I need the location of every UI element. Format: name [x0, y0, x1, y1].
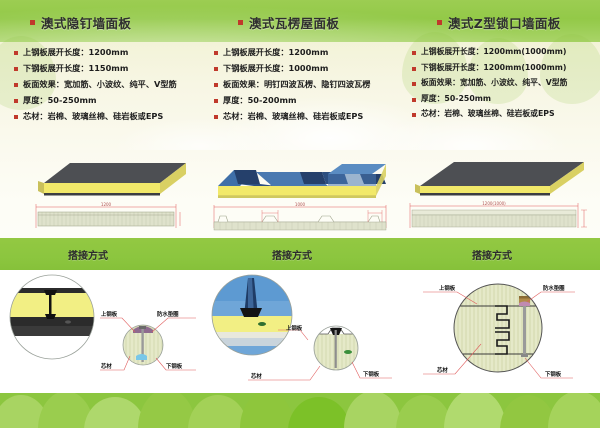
spec-item: 板面效果：宽加筋、小波纹、纯平、V型筋 [14, 80, 210, 89]
panel-dimension-drawing-2: 1000 [214, 202, 386, 230]
bullet-square-icon [14, 83, 18, 87]
bottom-leaf-decoration [0, 393, 600, 428]
joint-detail-area: 上钢板 防水垫圈 芯材 下钢板 [0, 270, 600, 393]
panel-dimension-drawing-3: 1200(1000) [410, 201, 587, 228]
bullet-square-icon [412, 51, 416, 55]
bullet-square-icon [14, 67, 18, 71]
spec-text: 板面效果：宽加筋、小波纹、纯平、V型筋 [421, 79, 567, 88]
bullet-square-icon [412, 82, 416, 86]
spec-column-2: 上钢板展开长度：1200mm 下钢板展开长度：1000mm 板面效果：明钉四波瓦… [214, 48, 410, 128]
spec-text: 下钢板展开长度：1000mm [223, 64, 328, 73]
bullet-square-icon [412, 113, 416, 117]
bullet-square-icon [412, 67, 416, 71]
lap-label-2: 搭接方式 [272, 247, 312, 262]
spec-item: 芯材：岩棉、玻璃丝棉、硅岩板或EPS [14, 112, 210, 121]
bullet-square-icon [14, 99, 18, 103]
spec-text: 上钢板展开长度：1200mm [223, 48, 328, 57]
spec-text: 板面效果：明钉四波瓦楞、隐钉四波瓦楞 [223, 80, 370, 89]
product-title-2-label: 澳式瓦楞屋面板 [249, 13, 339, 32]
product-title-row: 澳式隐钉墙面板 澳式瓦楞屋面板 澳式Z型锁口墙面板 [0, 0, 600, 42]
spec-column-1: 上钢板展开长度：1200mm 下钢板展开长度：1150mm 板面效果：宽加筋、小… [14, 48, 210, 128]
spec-columns: 上钢板展开长度：1200mm 下钢板展开长度：1150mm 板面效果：宽加筋、小… [0, 42, 600, 150]
bullet-square-icon [214, 51, 218, 55]
callout-waterproof-washer-3: 防水垫圈 [543, 284, 565, 292]
bullet-square-icon [214, 115, 218, 119]
spec-text: 下钢板展开长度：1200mm(1000mm) [421, 64, 566, 73]
spec-item: 下钢板展开长度：1200mm(1000mm) [412, 64, 600, 73]
lap-label-1: 搭接方式 [68, 247, 108, 262]
lap-joint-bar: 搭接方式 搭接方式 搭接方式 [0, 238, 600, 270]
panel-dimension-drawing-1: 1200 [36, 202, 180, 228]
callout-lower-plate-1: 下钢板 [166, 362, 182, 370]
spec-column-3: 上钢板展开长度：1200mm(1000mm) 下钢板展开长度：1200mm(10… [412, 48, 600, 126]
spec-item: 厚度：50-200mm [214, 96, 410, 105]
spec-text: 厚度：50-250mm [23, 96, 97, 105]
z-lock-detail [450, 282, 548, 374]
spec-text: 上钢板展开长度：1200mm [23, 48, 128, 57]
panel-core-face [44, 183, 160, 194]
spec-item: 厚度：50-250mm [412, 95, 600, 104]
callout-upper-plate-3: 上钢板 [439, 284, 455, 292]
spec-item: 板面效果：明钉四波瓦楞、隐钉四波瓦楞 [214, 80, 410, 89]
callout-upper-plate-2: 上钢板 [286, 324, 302, 332]
product-title-3: 澳式Z型锁口墙面板 [437, 13, 561, 32]
spec-item: 上钢板展开长度：1200mm [214, 48, 410, 57]
spec-item: 芯材：岩棉、玻璃丝棉、硅岩板或EPS [412, 110, 600, 119]
panel-drawing-3: 1200(1000) [400, 150, 600, 238]
spec-text: 厚度：50-250mm [421, 95, 491, 104]
spec-item: 厚度：50-250mm [14, 96, 210, 105]
bullet-square-icon [214, 99, 218, 103]
callout-upper-plate-1: 上钢板 [101, 310, 117, 318]
dimension-label-1: 1200 [101, 202, 112, 207]
spec-item: 板面效果：宽加筋、小波纹、纯平、V型筋 [412, 79, 600, 88]
spec-item: 上钢板展开长度：1200mm [14, 48, 210, 57]
bullet-square-icon [214, 67, 218, 71]
spec-text: 芯材：岩棉、玻璃丝棉、硅岩板或EPS [421, 110, 555, 119]
spec-item: 芯材：岩棉、玻璃丝棉、硅岩板或EPS [214, 112, 410, 121]
panel-core-face [420, 186, 550, 194]
panel-drawing-2: 1000 [200, 150, 400, 238]
dimension-label-3: 1200(1000) [482, 201, 506, 206]
callout-core-2: 芯材 [251, 372, 262, 380]
joint-detail-3: 上钢板 防水垫圈 芯材 下钢板 [395, 270, 600, 393]
joint-detail-2: 上钢板 芯材 下钢板 [200, 270, 395, 393]
spec-text: 芯材：岩棉、玻璃丝棉、硅岩板或EPS [223, 112, 363, 121]
bullet-square-icon [30, 20, 35, 25]
spec-text: 芯材：岩棉、玻璃丝棉、硅岩板或EPS [23, 112, 163, 121]
product-title-1: 澳式隐钉墙面板 [30, 13, 131, 32]
bullet-square-icon [412, 98, 416, 102]
spec-text: 板面效果：宽加筋、小波纹、纯平、V型筋 [23, 80, 177, 89]
bullet-square-icon [14, 115, 18, 119]
spec-text: 厚度：50-200mm [223, 96, 297, 105]
product-title-2: 澳式瓦楞屋面板 [238, 13, 339, 32]
callout-core-3: 芯材 [437, 366, 448, 374]
bullet-square-icon [238, 20, 243, 25]
lap-label-3: 搭接方式 [472, 247, 512, 262]
callout-lower-plate-3: 下钢板 [545, 370, 561, 378]
callout-lower-plate-2: 下钢板 [363, 370, 379, 378]
spec-item: 下钢板展开长度：1150mm [14, 64, 210, 73]
bullet-square-icon [214, 83, 218, 87]
spec-text: 下钢板展开长度：1150mm [23, 64, 128, 73]
product-title-3-label: 澳式Z型锁口墙面板 [448, 13, 561, 32]
panel-drawing-1: 1200 [0, 150, 200, 238]
spec-item: 上钢板展开长度：1200mm(1000mm) [412, 48, 600, 57]
spec-item: 下钢板展开长度：1000mm [214, 64, 410, 73]
spec-text: 上钢板展开长度：1200mm(1000mm) [421, 48, 566, 57]
bullet-square-icon [437, 20, 442, 25]
joint-detail-1: 上钢板 防水垫圈 芯材 下钢板 [0, 270, 200, 393]
product-title-1-label: 澳式隐钉墙面板 [41, 13, 131, 32]
bullet-square-icon [14, 51, 18, 55]
dimension-label-2: 1000 [295, 202, 306, 207]
product-spec-sheet: 澳式隐钉墙面板 澳式瓦楞屋面板 澳式Z型锁口墙面板 上钢板展开长度：1200mm… [0, 0, 600, 428]
callout-core-1: 芯材 [101, 362, 112, 370]
callout-waterproof-washer-1: 防水垫圈 [157, 310, 179, 318]
